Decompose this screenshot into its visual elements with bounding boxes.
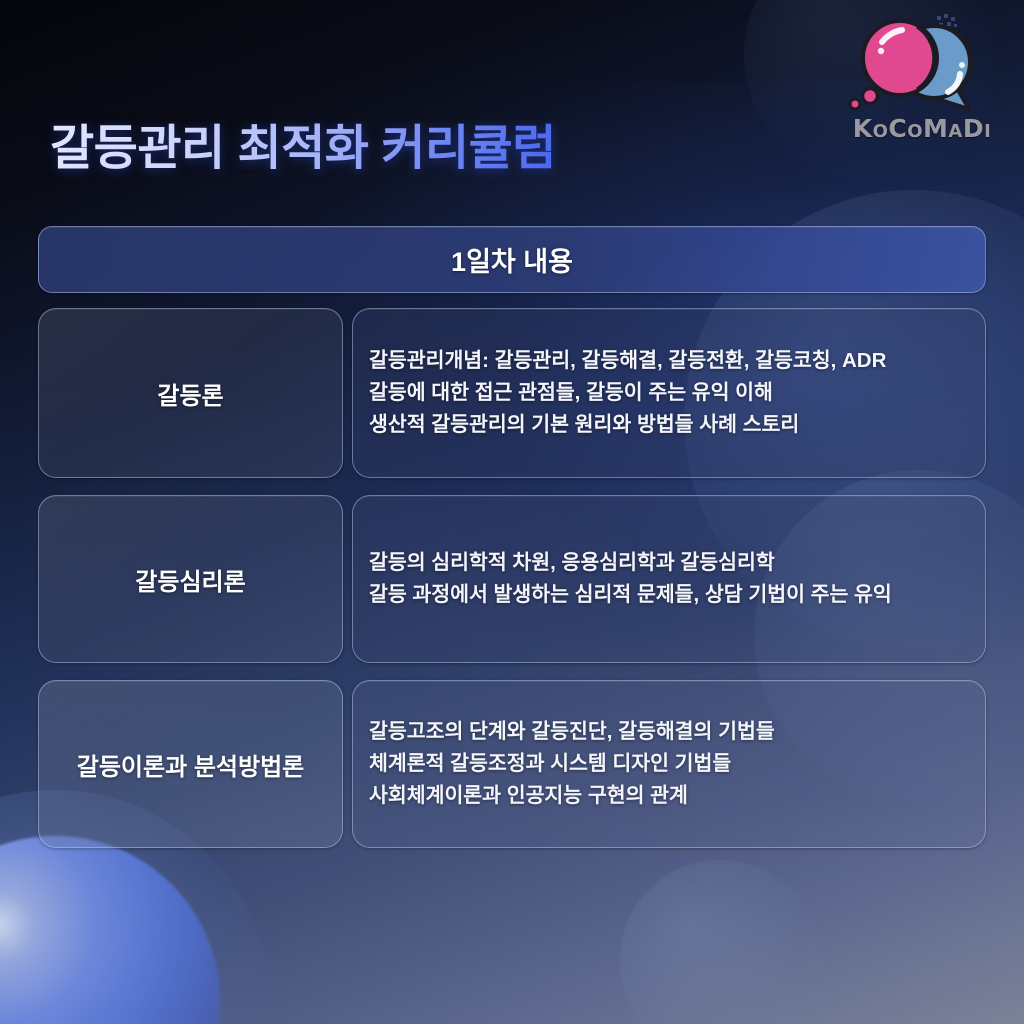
content-line: 갈등 과정에서 발생하는 심리적 문제들, 상담 기법이 주는 유익 [369,579,985,611]
table-row: 갈등이론과 분석방법론 갈등고조의 단계와 갈등진단, 갈등해결의 기법들 체계… [38,680,986,848]
content-line: 갈등의 심리학적 차원, 응용심리학과 갈등심리학 [369,547,985,579]
table-header-label: 1일차 내용 [451,240,573,279]
brand-logo: KoCoMaDi [838,10,1006,150]
row-label: 갈등이론과 분석방법론 [77,747,304,782]
row-content-cell: 갈등관리개념: 갈등관리, 갈등해결, 갈등전환, 갈등코칭, ADR 갈등에 … [352,308,986,478]
table-row: 갈등심리론 갈등의 심리학적 차원, 응용심리학과 갈등심리학 갈등 과정에서 … [38,495,986,663]
content-line: 갈등고조의 단계와 갈등진단, 갈등해결의 기법들 [369,716,985,748]
content-line: 갈등에 대한 접근 관점들, 갈등이 주는 유익 이해 [369,377,985,409]
content-line: 갈등관리개념: 갈등관리, 갈등해결, 갈등전환, 갈등코칭, ADR [369,345,985,377]
logo-mark [838,10,1006,114]
content-line: 사회체계이론과 인공지능 구현의 관계 [369,780,985,812]
row-label-cell: 갈등이론과 분석방법론 [38,680,343,848]
content-line: 체계론적 갈등조정과 시스템 디자인 기법들 [369,748,985,780]
content-line: 생산적 갈등관리의 기본 원리와 방법들 사례 스토리 [369,409,985,441]
table-header: 1일차 내용 [38,226,986,293]
logo-wordmark: KoCoMaDi [838,114,1006,143]
curriculum-table: 1일차 내용 갈등론 갈등관리개념: 갈등관리, 갈등해결, 갈등전환, 갈등코… [38,226,986,865]
row-label: 갈등론 [157,376,223,411]
row-content-cell: 갈등고조의 단계와 갈등진단, 갈등해결의 기법들 체계론적 갈등조정과 시스템… [352,680,986,848]
row-label: 갈등심리론 [135,562,245,597]
logo-bubbles-icon [838,10,1006,114]
row-content-cell: 갈등의 심리학적 차원, 응용심리학과 갈등심리학 갈등 과정에서 발생하는 심… [352,495,986,663]
page-title: 갈등관리 최적화 커리큘럼 [50,108,556,178]
row-label-cell: 갈등심리론 [38,495,343,663]
row-label-cell: 갈등론 [38,308,343,478]
table-row: 갈등론 갈등관리개념: 갈등관리, 갈등해결, 갈등전환, 갈등코칭, ADR … [38,308,986,478]
